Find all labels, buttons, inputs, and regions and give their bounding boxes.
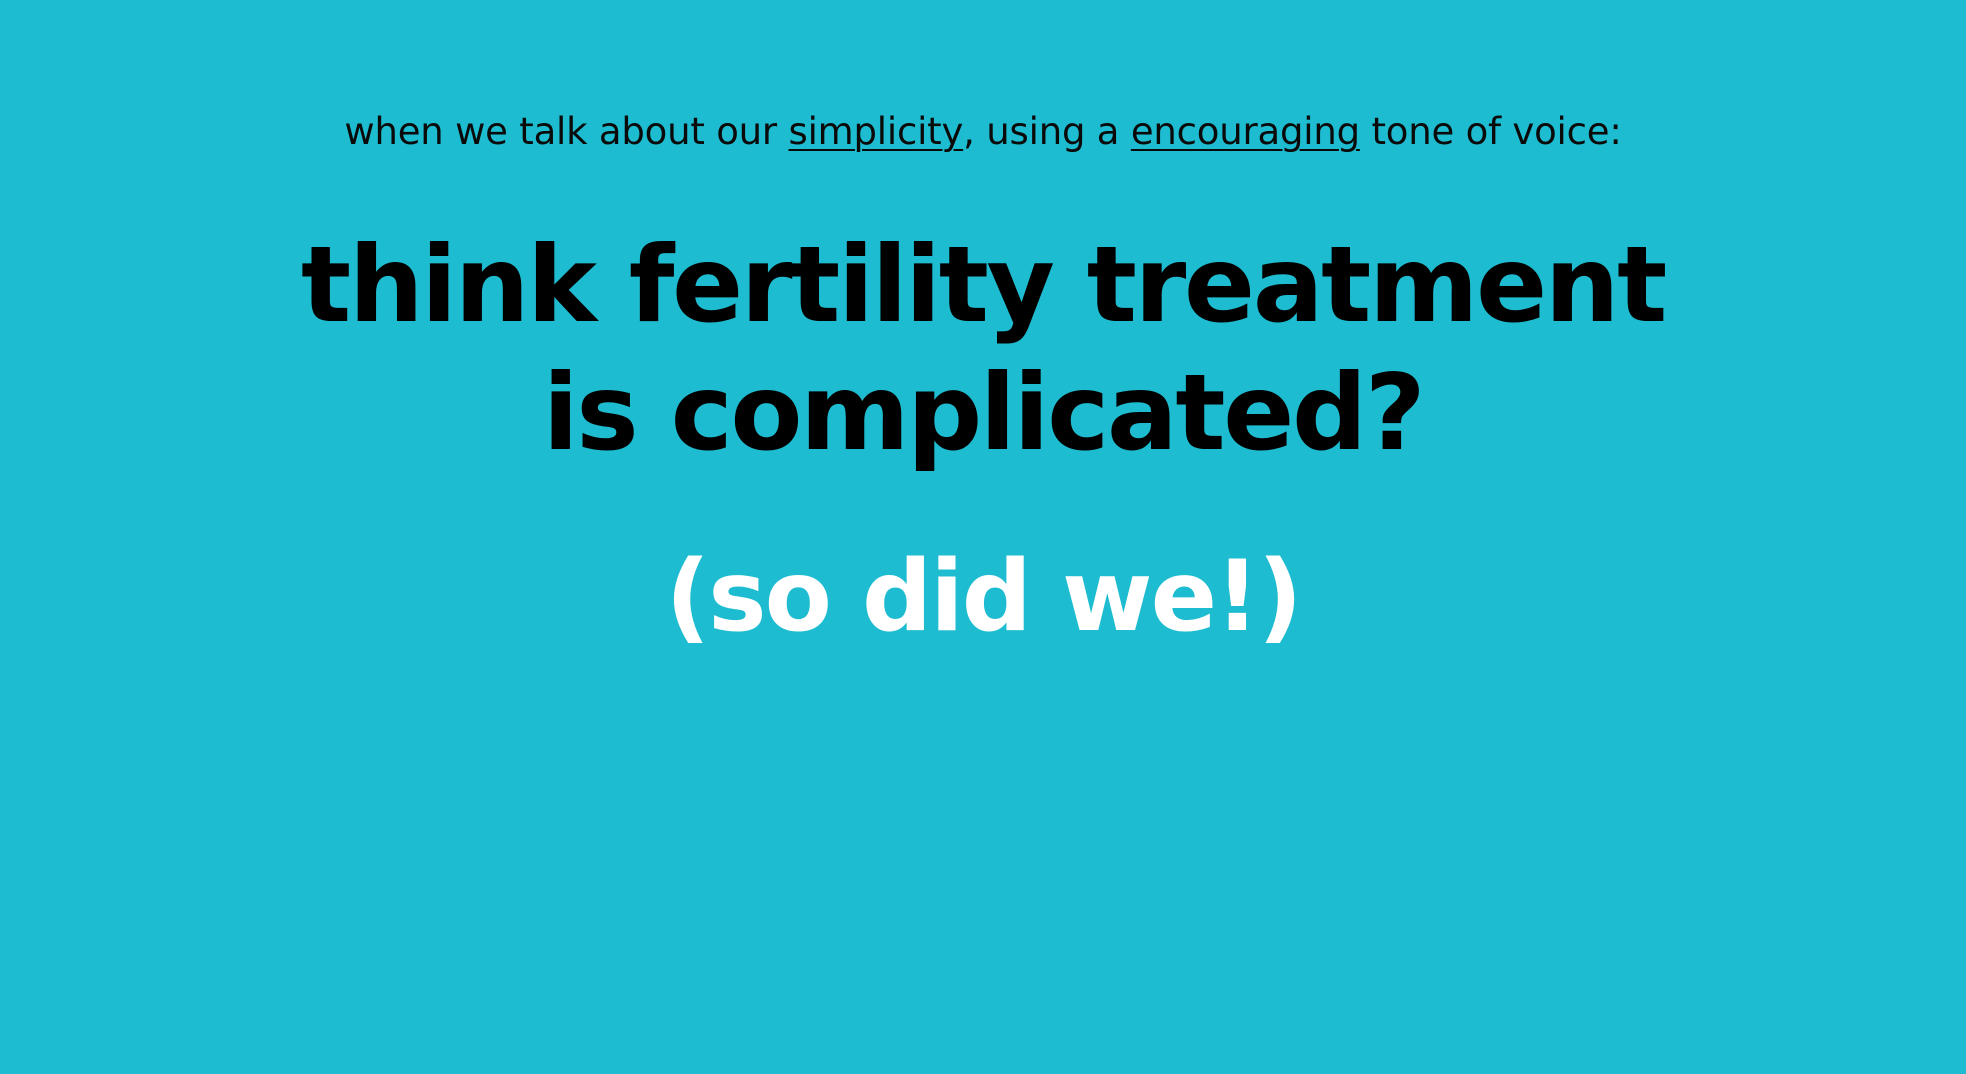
eyebrow-link-simplicity[interactable]: simplicity (789, 110, 964, 153)
page-title: think fertility treatment is complicated… (301, 221, 1665, 477)
eyebrow-link-encouraging[interactable]: encouraging (1131, 110, 1360, 153)
eyebrow-caption: when we talk about our simplicity, using… (344, 112, 1621, 153)
headline-line-2: is complicated? (301, 349, 1665, 477)
eyebrow-text-part-2: , using a (963, 110, 1131, 153)
headline-line-1: think fertility treatment (301, 221, 1665, 349)
kicker-line: (so did we!) (665, 539, 1300, 657)
eyebrow-text-part-3: tone of voice: (1360, 110, 1622, 153)
slide-canvas: when we talk about our simplicity, using… (0, 0, 1966, 1074)
eyebrow-text-part-1: when we talk about our (344, 110, 788, 153)
